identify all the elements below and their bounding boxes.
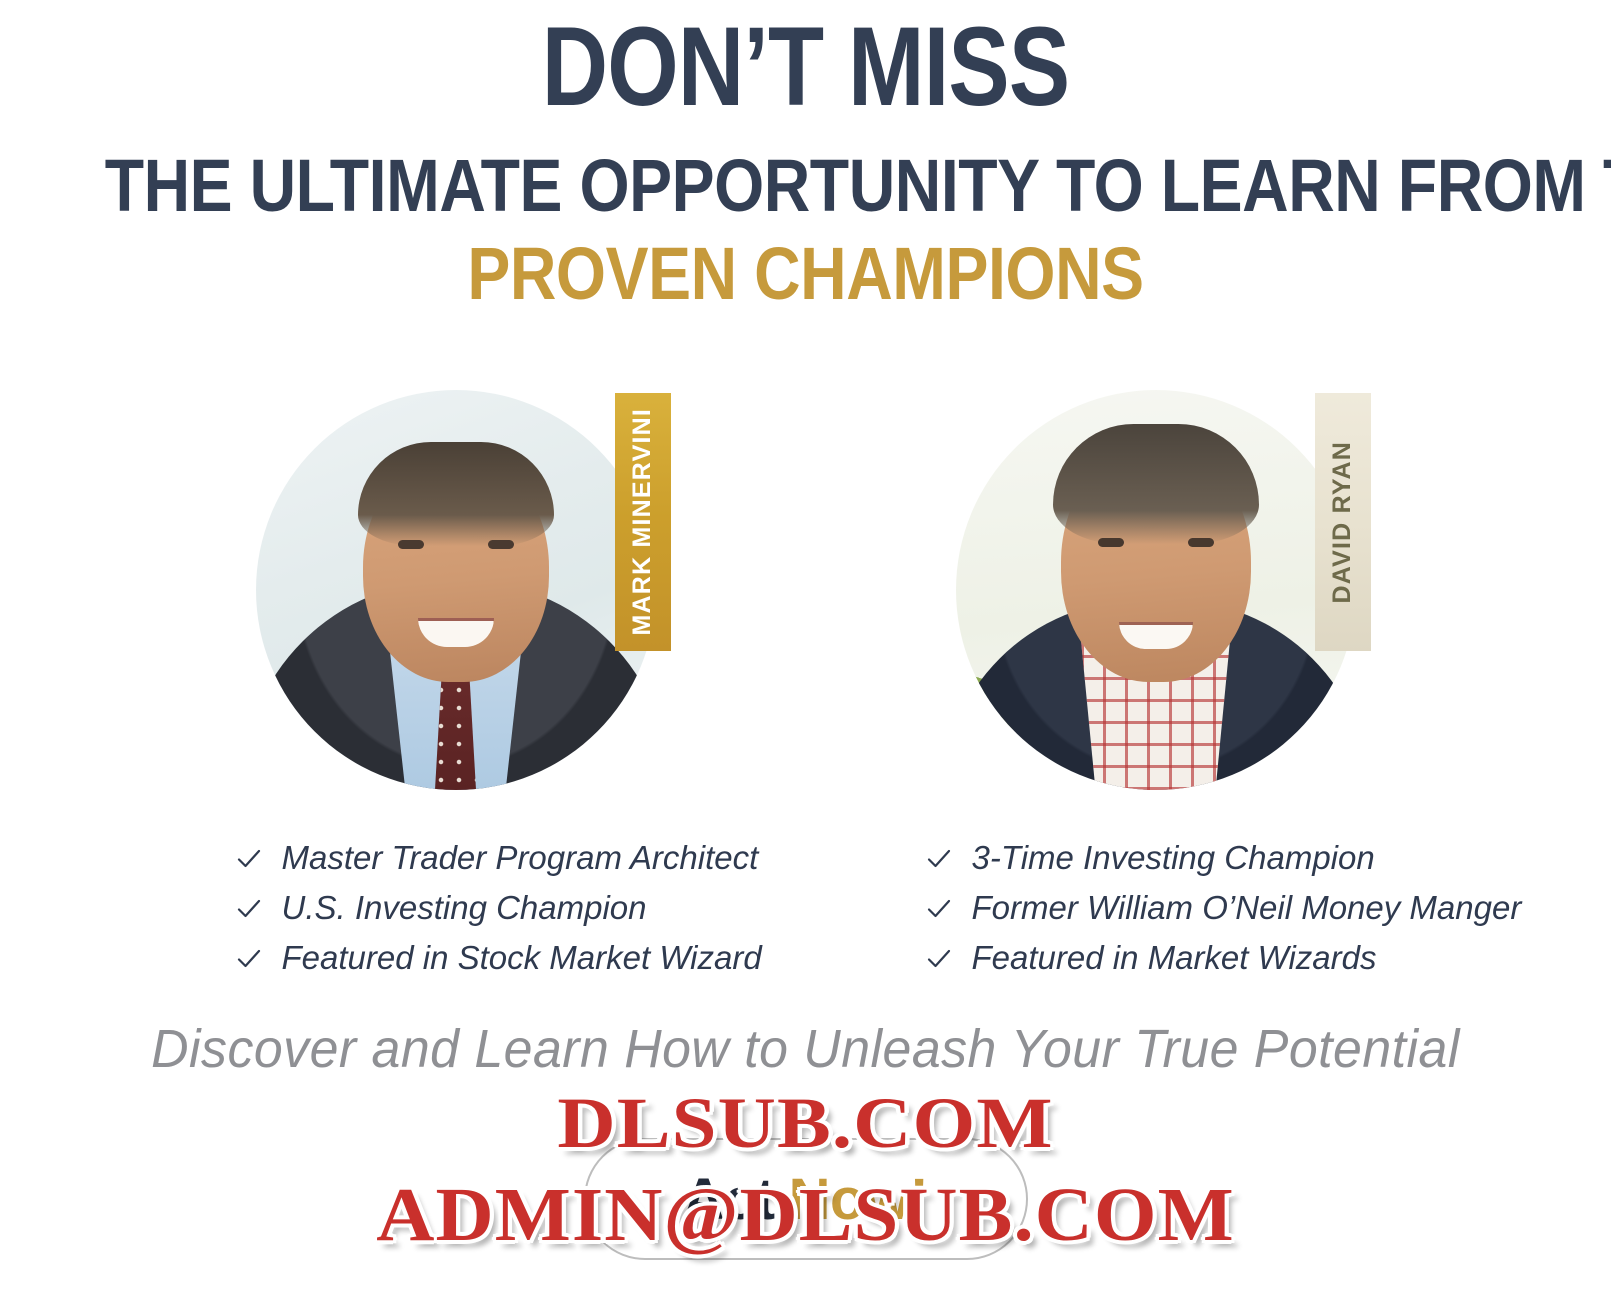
- portrait-eye-left: [398, 540, 424, 549]
- speaker-name-banner-mark-minervini: MARK MINERVINI: [615, 393, 671, 651]
- portrait-hair: [1053, 424, 1259, 544]
- speakers-section: MARK MINERVINI Master Trader Program Arc…: [0, 385, 1611, 987]
- list-item: 3-Time Investing Champion: [926, 837, 1386, 887]
- promo-page: DON’T MISS THE ULTIMATE OPPORTUNITY TO L…: [0, 0, 1611, 1291]
- speaker-name-label: DAVID RYAN: [1328, 441, 1357, 604]
- headline-secondary: THE ULTIMATE OPPORTUNITY TO LEARN FROM T…: [105, 126, 1507, 226]
- credential-text: Featured in Stock Market Wizard: [282, 937, 762, 979]
- credential-text: Master Trader Program Architect: [282, 837, 759, 879]
- headline-primary: DON’T MISS: [145, 0, 1466, 126]
- portrait-illustration: [956, 390, 1356, 790]
- list-item: Featured in Stock Market Wizard: [236, 937, 686, 987]
- credential-text: 3-Time Investing Champion: [972, 837, 1375, 879]
- speaker-photo-wrap: MARK MINERVINI: [241, 385, 671, 815]
- headline-block: DON’T MISS THE ULTIMATE OPPORTUNITY TO L…: [0, 0, 1611, 314]
- portrait-eye-right: [1188, 538, 1214, 547]
- portrait-illustration: [256, 390, 656, 790]
- cta-wrap: Act Now!: [584, 1138, 1028, 1260]
- speaker-card-mark-minervini: MARK MINERVINI Master Trader Program Arc…: [226, 385, 686, 987]
- tagline: Discover and Learn How to Unleash Your T…: [32, 1018, 1579, 1080]
- speaker-credentials-list: 3-Time Investing Champion Former William…: [926, 815, 1386, 987]
- credential-text: Featured in Market Wizards: [972, 937, 1377, 979]
- check-icon: [926, 846, 952, 872]
- list-item: Former William O’Neil Money Manger: [926, 887, 1386, 937]
- list-item: Master Trader Program Architect: [236, 837, 686, 887]
- portrait-eye-left: [1098, 538, 1124, 547]
- list-item: U.S. Investing Champion: [236, 887, 686, 937]
- check-icon: [236, 846, 262, 872]
- act-now-button[interactable]: Act Now!: [584, 1138, 1028, 1260]
- speaker-portrait-mark-minervini: [256, 390, 656, 790]
- speaker-name-banner-david-ryan: DAVID RYAN: [1315, 393, 1371, 651]
- speaker-card-david-ryan: DAVID RYAN 3-Time Investing Champion: [926, 385, 1386, 987]
- cta-label-primary: Act: [683, 1166, 775, 1233]
- speaker-credentials-list: Master Trader Program Architect U.S. Inv…: [226, 815, 686, 987]
- credential-text: Former William O’Neil Money Manger: [972, 887, 1522, 929]
- cta-label-accent: Now!: [789, 1166, 929, 1233]
- speaker-portrait-david-ryan: [956, 390, 1356, 790]
- headline-accent: PROVEN CHAMPIONS: [105, 226, 1507, 314]
- portrait-eye-right: [488, 540, 514, 549]
- portrait-hair: [358, 442, 554, 546]
- speaker-name-label: MARK MINERVINI: [628, 408, 657, 635]
- speaker-photo-wrap: DAVID RYAN: [941, 385, 1371, 815]
- check-icon: [926, 896, 952, 922]
- list-item: Featured in Market Wizards: [926, 937, 1386, 987]
- check-icon: [236, 896, 262, 922]
- check-icon: [236, 946, 262, 972]
- credential-text: U.S. Investing Champion: [282, 887, 647, 929]
- check-icon: [926, 946, 952, 972]
